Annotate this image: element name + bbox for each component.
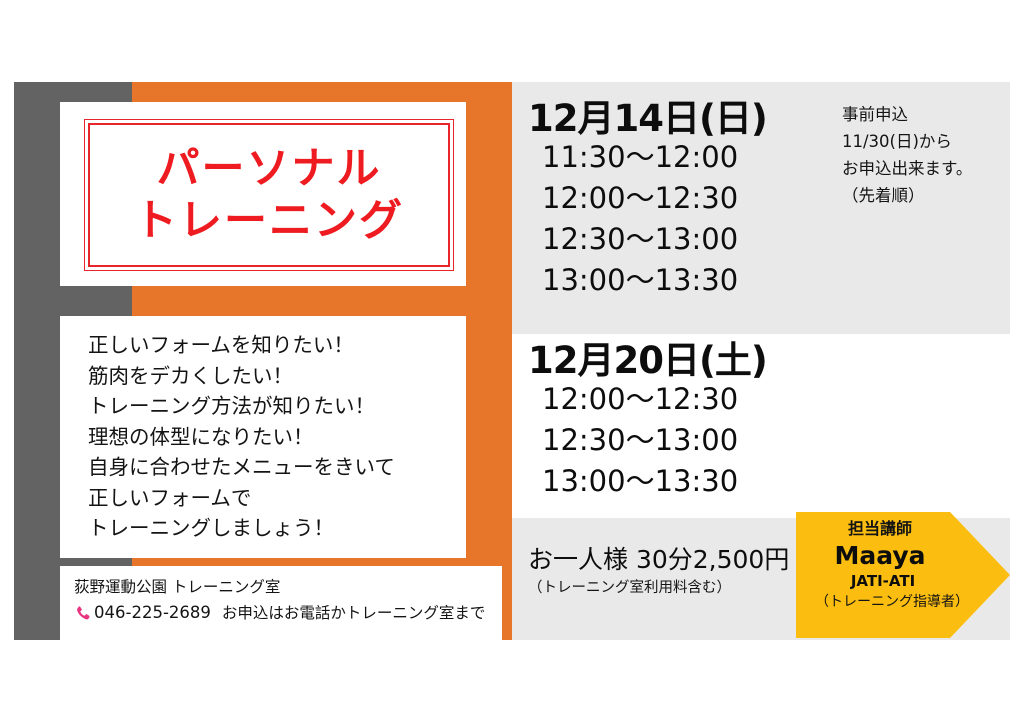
benefit-line-2: 筋肉をデカくしたい！ (88, 361, 466, 392)
session-2-slot-3: 13:00〜13:30 (528, 461, 767, 502)
benefit-line-3: トレーニング方法が知りたい！ (88, 391, 466, 422)
session-block-2: 12月20日(土) 12:00〜12:30 12:30〜13:00 13:00〜… (512, 334, 1010, 518)
contact-card: 荻野運動公園 トレーニング室 046-225-2689 お申込はお電話かトレーニ… (60, 566, 502, 640)
notice-line-4: （先着順） (842, 182, 1012, 209)
venue-name: 荻野運動公園 トレーニング室 (74, 575, 502, 599)
poster-title-line-1: パーソナル (157, 143, 382, 195)
title-red-border-box: パーソナル トレーニング (88, 123, 450, 267)
session-1-date: 12月14日(日) (528, 100, 767, 137)
session-2-slot-1: 12:00〜12:30 (528, 379, 767, 420)
price-amount: お一人様 30分2,500円 (528, 540, 789, 576)
left-panel: パーソナル トレーニング 正しいフォームを知りたい！ 筋肉をデカくしたい！ トレ… (14, 82, 512, 640)
session-2-column: 12月20日(土) 12:00〜12:30 12:30〜13:00 13:00〜… (528, 342, 767, 502)
session-block-1: 12月14日(日) 11:30〜12:00 12:00〜12:30 12:30〜… (512, 82, 1010, 334)
notice-line-1: 事前申込 (842, 101, 1012, 128)
notice-line-2: 11/30(日)から (842, 128, 1012, 155)
benefit-line-1: 正しいフォームを知りたい！ (88, 330, 466, 361)
phone-row: 046-225-2689 お申込はお電話かトレーニング室まで (74, 601, 502, 623)
phone-note: お申込はお電話かトレーニング室まで (222, 601, 486, 623)
phone-number[interactable]: 046-225-2689 (94, 603, 211, 622)
title-card: パーソナル トレーニング (60, 102, 466, 286)
notice-line-3: お申込出来ます。 (842, 155, 1012, 182)
benefit-line-7: トレーニングしましょう！ (88, 513, 466, 544)
session-1-slot-3: 12:30〜13:00 (528, 219, 767, 260)
instructor-name: Maaya (796, 541, 1010, 571)
phone-icon (74, 605, 91, 622)
session-1-column: 12月14日(日) 11:30〜12:00 12:00〜12:30 12:30〜… (528, 100, 767, 301)
benefit-line-6: 正しいフォームで (88, 483, 466, 514)
session-1-slot-4: 13:00〜13:30 (528, 260, 767, 301)
advance-application-notice: 事前申込 11/30(日)から お申込出来ます。 （先着順） (842, 101, 1012, 209)
session-1-slot-2: 12:00〜12:30 (528, 178, 767, 219)
session-1-slot-1: 11:30〜12:00 (528, 137, 767, 178)
poster-title-line-2: トレーニング (134, 195, 404, 247)
benefit-line-5: 自身に合わせたメニューをきいて (88, 452, 466, 483)
benefits-card: 正しいフォームを知りたい！ 筋肉をデカくしたい！ トレーニング方法が知りたい！ … (60, 316, 466, 558)
instructor-certification: JATI-ATI (796, 571, 1010, 592)
session-2-date: 12月20日(土) (528, 342, 767, 379)
benefit-line-4: 理想の体型になりたい！ (88, 422, 466, 453)
price-note: （トレーニング室利用料含む） (528, 576, 731, 597)
session-2-slot-2: 12:30〜13:00 (528, 420, 767, 461)
